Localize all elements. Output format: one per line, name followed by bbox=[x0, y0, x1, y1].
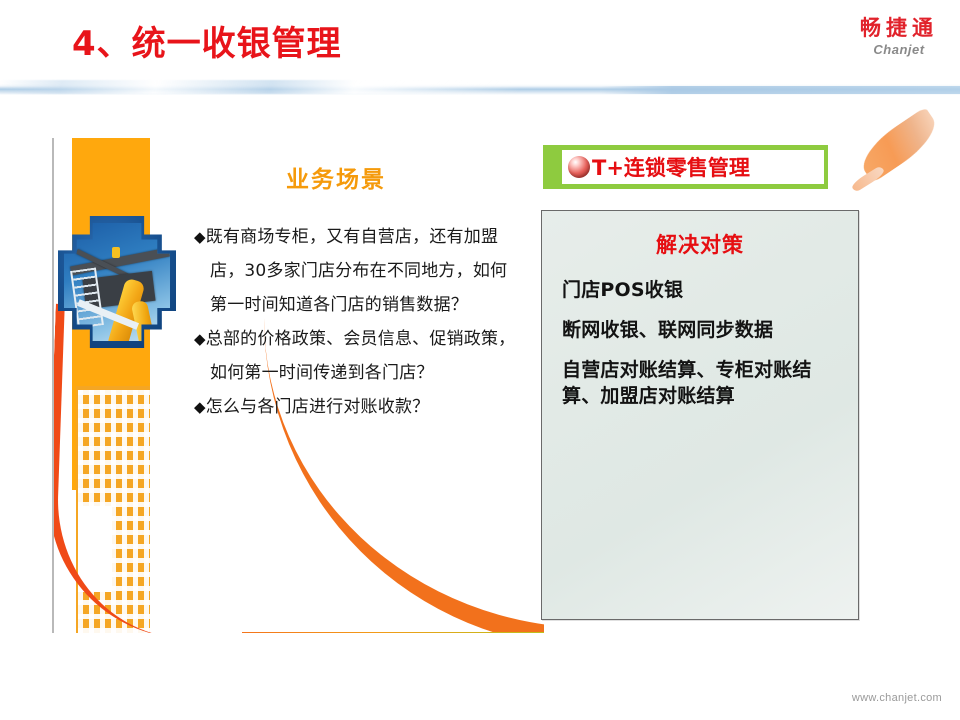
slide-canvas: 4、统一收银管理 畅捷通 Chanjet 业 bbox=[0, 0, 960, 720]
diamond-bullet-icon: ◆ bbox=[194, 398, 206, 416]
business-scenario-list: ◆既有商场专柜，又有自营店，还有加盟店，30多家门店分布在不同地方，如何第一时间… bbox=[194, 220, 524, 424]
photo-worker bbox=[112, 247, 120, 258]
list-item: ◆既有商场专柜，又有自营店，还有加盟店，30多家门店分布在不同地方，如何第一时间… bbox=[194, 220, 524, 322]
feather-quill-body bbox=[854, 107, 944, 183]
header-divider-sheen bbox=[0, 80, 520, 94]
page-title: 4、统一收银管理 bbox=[72, 16, 342, 65]
diamond-bullet-icon: ◆ bbox=[194, 330, 206, 348]
feather-quill-icon bbox=[852, 118, 948, 204]
list-item: 断网收银、联网同步数据 bbox=[562, 317, 846, 343]
list-item: ◆总部的价格政策、会员信息、促销政策，如何第一时间传递到各门店？ bbox=[194, 322, 524, 390]
list-item: 自营店对账结算、专柜对账结算、加盟店对账结算 bbox=[562, 357, 846, 409]
list-item-text: 怎么与各门店进行对账收款？ bbox=[206, 397, 430, 417]
brand-logo: 畅捷通 Chanjet bbox=[860, 18, 938, 56]
solution-panel-title: 解决对策 bbox=[542, 229, 858, 259]
solution-list: 门店POS收银 断网收银、联网同步数据 自营店对账结算、专柜对账结算、加盟店对账… bbox=[542, 277, 858, 409]
brand-logo-cn: 畅捷通 bbox=[860, 18, 938, 39]
footer-url: www.chanjet.com bbox=[852, 692, 942, 704]
red-swoosh bbox=[52, 304, 195, 633]
list-item-text: 总部的价格政策、会员信息、促销政策，如何第一时间传递到各门店？ bbox=[206, 329, 516, 383]
list-item: 门店POS收银 bbox=[562, 277, 846, 303]
product-banner: T+连锁零售管理 bbox=[562, 150, 824, 184]
photo-inner bbox=[64, 223, 170, 341]
construction-crane-photo bbox=[58, 216, 176, 348]
solution-panel: 解决对策 门店POS收银 断网收银、联网同步数据 自营店对账结算、专柜对账结算、… bbox=[541, 210, 859, 620]
list-item: ◆怎么与各门店进行对账收款？ bbox=[194, 390, 524, 424]
business-scenario-title: 业务场景 bbox=[54, 160, 544, 194]
business-scenario-panel: 业务场景 ◆既有商场专柜，又有自营店，还有加盟店，30多家门店分布在不同地方，如… bbox=[52, 138, 544, 633]
red-sphere-bullet-icon bbox=[568, 156, 590, 178]
header-divider-right bbox=[600, 86, 960, 94]
list-item-text: 既有商场专柜，又有自营店，还有加盟店，30多家门店分布在不同地方，如何第一时间知… bbox=[206, 227, 507, 315]
product-banner-label: T+连锁零售管理 bbox=[592, 152, 750, 182]
diamond-bullet-icon: ◆ bbox=[194, 228, 206, 246]
brand-logo-en: Chanjet bbox=[860, 43, 938, 56]
